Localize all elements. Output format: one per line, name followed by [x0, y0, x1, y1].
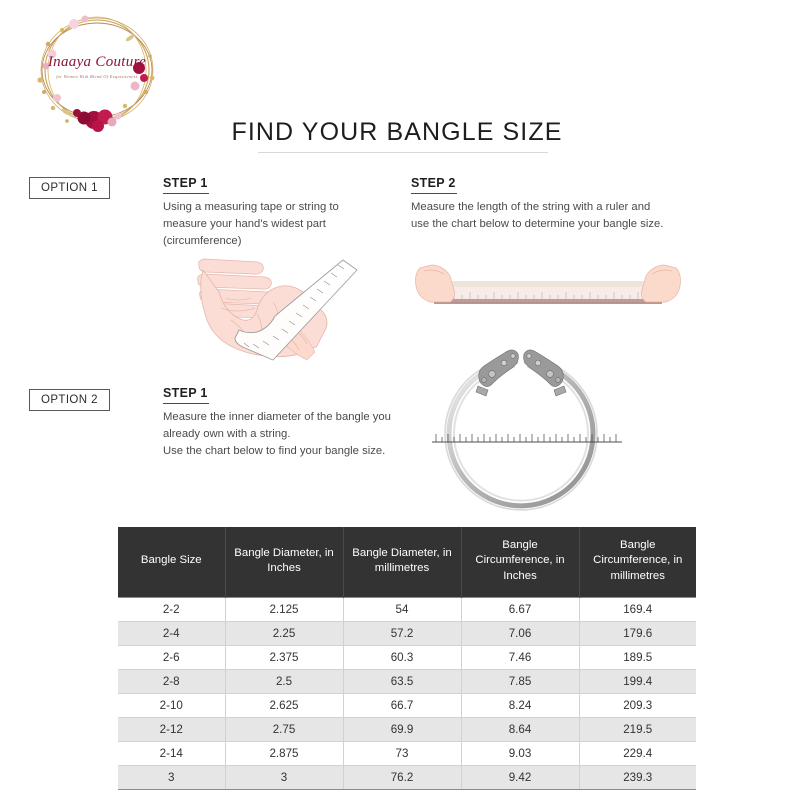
- cell-value: 3: [225, 765, 343, 789]
- hand-with-measuring-tape-illustration: [195, 248, 360, 368]
- cell-bangle-size: 2-8: [118, 669, 225, 693]
- table-row: 2-62.37560.37.46189.5: [118, 645, 696, 669]
- cell-value: 189.5: [579, 645, 696, 669]
- table-row: 2-82.563.57.85199.4: [118, 669, 696, 693]
- cell-value: 179.6: [579, 621, 696, 645]
- cell-bangle-size: 2-12: [118, 717, 225, 741]
- table-row: 3376.29.42239.3: [118, 765, 696, 789]
- page-title: FIND YOUR BANGLE SIZE: [0, 118, 794, 147]
- cell-value: 63.5: [343, 669, 461, 693]
- cell-value: 9.03: [461, 741, 579, 765]
- option-1-step-2-body: Measure the length of the string with a …: [411, 199, 666, 233]
- table-row: 2-102.62566.78.24209.3: [118, 693, 696, 717]
- table-body: 2-22.125546.67169.42-42.2557.27.06179.62…: [118, 597, 696, 789]
- cell-value: 239.3: [579, 765, 696, 789]
- option-1-badge: OPTION 1: [29, 177, 110, 199]
- cell-value: 73: [343, 741, 461, 765]
- cell-value: 8.64: [461, 717, 579, 741]
- table-row: 2-42.2557.27.06179.6: [118, 621, 696, 645]
- cell-value: 8.24: [461, 693, 579, 717]
- cell-bangle-size: 2-10: [118, 693, 225, 717]
- cell-value: 2.625: [225, 693, 343, 717]
- option-2-badge: OPTION 2: [29, 389, 110, 411]
- cell-bangle-size: 2-14: [118, 741, 225, 765]
- cell-value: 199.4: [579, 669, 696, 693]
- column-header-circumference-mm: Bangle Circumference, in millimetres: [579, 527, 696, 597]
- title-divider: [258, 152, 548, 153]
- cell-value: 169.4: [579, 597, 696, 621]
- cell-value: 6.67: [461, 597, 579, 621]
- cell-value: 9.42: [461, 765, 579, 789]
- column-header-diameter-inches: Bangle Diameter, in Inches: [225, 527, 343, 597]
- cell-value: 209.3: [579, 693, 696, 717]
- cell-value: 54: [343, 597, 461, 621]
- cell-value: 7.06: [461, 621, 579, 645]
- cell-value: 66.7: [343, 693, 461, 717]
- bangle-size-table: Bangle Size Bangle Diameter, in Inches B…: [118, 527, 696, 790]
- cell-value: 7.46: [461, 645, 579, 669]
- option-2-step-1-body: Measure the inner diameter of the bangle…: [163, 409, 408, 460]
- cell-bangle-size: 3: [118, 765, 225, 789]
- table-row: 2-22.125546.67169.4: [118, 597, 696, 621]
- cell-value: 2.875: [225, 741, 343, 765]
- cell-value: 60.3: [343, 645, 461, 669]
- cell-value: 69.9: [343, 717, 461, 741]
- brand-tagline: for Women With Blend Of Exquisiteness: [22, 74, 172, 79]
- brand-name: Inaaya Couture: [22, 54, 172, 71]
- table-row: 2-142.875739.03229.4: [118, 741, 696, 765]
- table-header-row: Bangle Size Bangle Diameter, in Inches B…: [118, 527, 696, 597]
- cell-bangle-size: 2-4: [118, 621, 225, 645]
- cell-value: 219.5: [579, 717, 696, 741]
- cell-value: 2.25: [225, 621, 343, 645]
- cell-value: 2.75: [225, 717, 343, 741]
- cell-value: 2.5: [225, 669, 343, 693]
- option-2-step-1-heading: STEP 1: [163, 386, 209, 404]
- cell-value: 57.2: [343, 621, 461, 645]
- cell-value: 229.4: [579, 741, 696, 765]
- column-header-bangle-size: Bangle Size: [118, 527, 225, 597]
- brand-logo: Inaaya Couture for Women With Blend Of E…: [22, 8, 172, 133]
- table-row: 2-122.7569.98.64219.5: [118, 717, 696, 741]
- column-header-diameter-mm: Bangle Diameter, in millimetres: [343, 527, 461, 597]
- hands-holding-ruler-photo: [412, 252, 684, 318]
- cell-bangle-size: 2-6: [118, 645, 225, 669]
- option-1-step-2-heading: STEP 2: [411, 176, 457, 194]
- cell-value: 2.375: [225, 645, 343, 669]
- option-1-step-1-body: Using a measuring tape or string to meas…: [163, 199, 363, 250]
- silver-bangle-with-ruler-photo: [420, 334, 622, 512]
- cell-value: 7.85: [461, 669, 579, 693]
- cell-value: 2.125: [225, 597, 343, 621]
- column-header-circumference-inches: Bangle Circumference, in Inches: [461, 527, 579, 597]
- cell-bangle-size: 2-2: [118, 597, 225, 621]
- cell-value: 76.2: [343, 765, 461, 789]
- option-1-step-1-heading: STEP 1: [163, 176, 209, 194]
